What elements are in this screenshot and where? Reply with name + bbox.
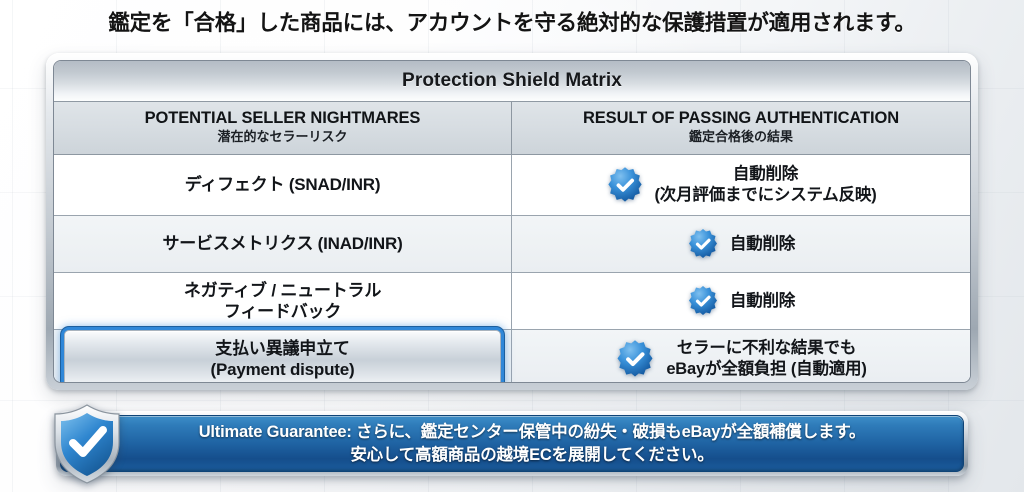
- check-seal-icon: [606, 166, 644, 204]
- result-label: 自動削除 (次月評価までにシステム反映): [655, 164, 877, 206]
- matrix-title: Protection Shield Matrix: [54, 61, 970, 102]
- check-seal-icon: [687, 228, 719, 260]
- risk-label-line1: 支払い異議申立て: [215, 339, 349, 358]
- ultimate-guarantee-line2: 安心して高額商品の越境ECを展開してください。: [199, 444, 866, 467]
- risk-cell: ディフェクト (SNAD/INR): [54, 155, 512, 215]
- result-cell: セラーに不利な結果でも eBayが全額負担 (自動適用): [512, 330, 970, 383]
- column-header-results: RESULT OF PASSING AUTHENTICATION 鑑定合格後の結…: [512, 102, 970, 154]
- table-row-highlighted: 支払い異議申立て (Payment dispute): [54, 330, 970, 383]
- risk-label: ディフェクト (SNAD/INR): [185, 174, 381, 195]
- ultimate-guarantee-banner-inner: Ultimate Guarantee: さらに、鑑定センター保管中の紛失・破損も…: [60, 415, 964, 472]
- result-label-line2: eBayが全額負担 (自動適用): [666, 360, 866, 378]
- column-header-risks-en: POTENTIAL SELLER NIGHTMARES: [145, 110, 421, 128]
- table-row: サービスメトリクス (INAD/INR) 自動削除: [54, 216, 970, 273]
- ultimate-guarantee-text: Ultimate Guarantee: さらに、鑑定センター保管中の紛失・破損も…: [141, 421, 884, 467]
- risk-cell: ネガティブ / ニュートラル フィードバック: [54, 273, 512, 329]
- risk-label: 支払い異議申立て (Payment dispute): [69, 338, 496, 380]
- result-label: セラーに不利な結果でも eBayが全額負担 (自動適用): [666, 338, 866, 380]
- risk-label: サービスメトリクス (INAD/INR): [162, 233, 402, 254]
- protection-shield-matrix-panel: Protection Shield Matrix POTENTIAL SELLE…: [46, 53, 978, 390]
- risk-label-line1: ネガティブ / ニュートラル: [184, 281, 381, 300]
- result-label: 自動削除: [730, 291, 795, 312]
- risk-label: ネガティブ / ニュートラル フィードバック: [184, 280, 381, 322]
- risk-cell: サービスメトリクス (INAD/INR): [54, 216, 512, 272]
- shield-check-icon: [50, 402, 124, 486]
- matrix-rows: ディフェクト (SNAD/INR) 自動削: [54, 155, 970, 383]
- result-cell: 自動削除: [512, 216, 970, 272]
- table-row: ネガティブ / ニュートラル フィードバック: [54, 273, 970, 330]
- matrix-header-row: POTENTIAL SELLER NIGHTMARES 潜在的なセラーリスク R…: [54, 102, 970, 155]
- payment-dispute-highlight[interactable]: 支払い異議申立て (Payment dispute): [64, 330, 501, 383]
- result-cell: 自動削除: [512, 273, 970, 329]
- ultimate-guarantee-banner: Ultimate Guarantee: さらに、鑑定センター保管中の紛失・破損も…: [56, 411, 968, 476]
- result-label-line2: (次月評価までにシステム反映): [655, 186, 877, 204]
- column-header-risks-jp: 潜在的なセラーリスク: [217, 129, 347, 145]
- page-title: 鑑定を「合格」した商品には、アカウントを守る絶対的な保護措置が適用されます。: [0, 6, 1024, 37]
- column-header-results-en: RESULT OF PASSING AUTHENTICATION: [583, 110, 899, 128]
- risk-cell-highlighted: 支払い異議申立て (Payment dispute): [54, 330, 512, 383]
- check-seal-icon: [615, 339, 655, 379]
- column-header-risks: POTENTIAL SELLER NIGHTMARES 潜在的なセラーリスク: [54, 102, 512, 154]
- result-label-line1: 自動削除: [733, 165, 798, 183]
- result-label-line1: セラーに不利な結果でも: [677, 339, 856, 357]
- check-seal-icon: [687, 285, 719, 317]
- ultimate-guarantee-line1: Ultimate Guarantee: さらに、鑑定センター保管中の紛失・破損も…: [199, 421, 866, 444]
- matrix-panel-inner: Protection Shield Matrix POTENTIAL SELLE…: [53, 60, 971, 383]
- result-label: 自動削除: [730, 234, 795, 255]
- column-header-results-jp: 鑑定合格後の結果: [689, 129, 793, 145]
- risk-label-line2: (Payment dispute): [211, 360, 355, 379]
- risk-label-line2: フィードバック: [224, 302, 341, 321]
- result-cell: 自動削除 (次月評価までにシステム反映): [512, 155, 970, 215]
- table-row: ディフェクト (SNAD/INR) 自動削: [54, 155, 970, 216]
